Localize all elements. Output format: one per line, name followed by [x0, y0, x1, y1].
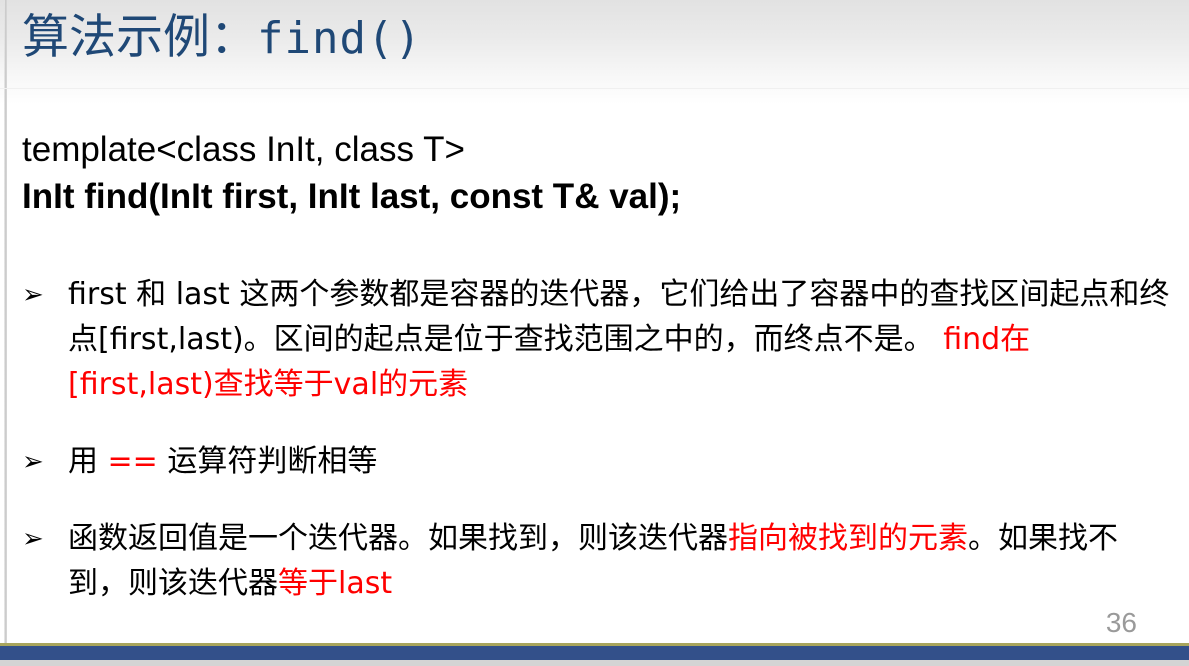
code-signature-block: template<class InIt, class T> InIt find(… — [22, 126, 681, 220]
bullet-segment: 用 — [68, 444, 108, 479]
page-title: 算法示例：find() — [22, 2, 422, 74]
bullet-list: ➢ first 和 last 这两个参数都是容器的迭代器，它们给出了容器中的查找… — [22, 272, 1172, 606]
bullet-segment-highlight: == — [108, 444, 158, 479]
bullet-segment-highlight: 等于last — [278, 566, 392, 601]
bullet-segment: 函数返回值是一个迭代器。如果找到，则该迭代器 — [68, 521, 728, 556]
arrow-bullet-icon: ➢ — [22, 517, 56, 562]
bullet-segment-highlight: 指向被找到的元素 — [728, 521, 968, 556]
page-title-chinese: 算法示例： — [22, 10, 257, 65]
footer-bottom-strip — [0, 660, 1189, 666]
bullet-text: 函数返回值是一个迭代器。如果找到，则该迭代器指向被找到的元素。如果找不到，则该迭… — [68, 516, 1172, 606]
list-item: ➢ first 和 last 这两个参数都是容器的迭代器，它们给出了容器中的查找… — [22, 272, 1172, 407]
bullet-text: 用 == 运算符判断相等 — [68, 439, 1172, 484]
arrow-bullet-icon: ➢ — [22, 440, 56, 485]
bullet-text: first 和 last 这两个参数都是容器的迭代器，它们给出了容器中的查找区间… — [68, 272, 1172, 407]
slide-canvas: 算法示例：find() template<class InIt, class T… — [0, 0, 1189, 666]
page-title-code: find() — [257, 13, 422, 64]
list-item: ➢ 用 == 运算符判断相等 — [22, 439, 1172, 484]
bullet-segment: 运算符判断相等 — [158, 444, 378, 479]
page-number: 36 — [1106, 608, 1137, 638]
list-item: ➢ 函数返回值是一个迭代器。如果找到，则该迭代器指向被找到的元素。如果找不到，则… — [22, 516, 1172, 606]
footer-bar — [0, 646, 1189, 660]
code-line-declaration: InIt find(InIt first, InIt last, const T… — [22, 173, 681, 220]
code-line-template: template<class InIt, class T> — [22, 126, 681, 173]
left-edge-rule — [4, 0, 7, 648]
title-hairline-divider — [0, 88, 1189, 89]
arrow-bullet-icon: ➢ — [22, 273, 56, 318]
